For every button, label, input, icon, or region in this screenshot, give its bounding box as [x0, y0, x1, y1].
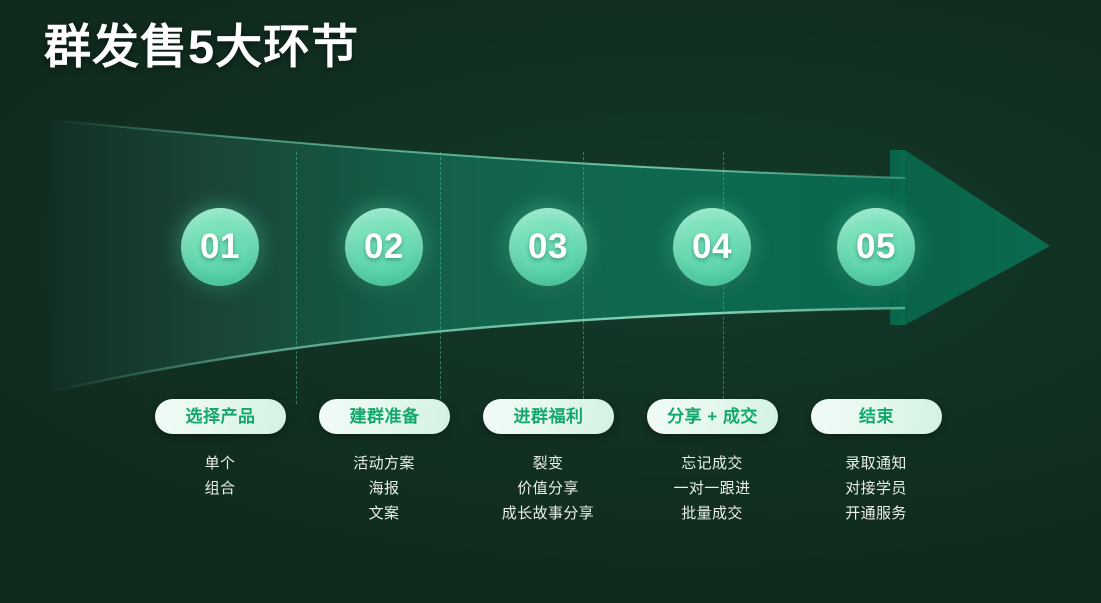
step-title-label: 选择产品 [186, 408, 256, 425]
step-number-badge-03[interactable]: 03 [509, 208, 587, 286]
step-column-04[interactable]: 04 分享 + 成交 忘记成交 一对一跟进 批量成交 [630, 0, 794, 603]
step-title-pill-05[interactable]: 结束 [811, 399, 942, 434]
step-number-badge-01[interactable]: 01 [181, 208, 259, 286]
step-title-pill-01[interactable]: 选择产品 [155, 399, 286, 434]
step-column-02[interactable]: 02 建群准备 活动方案 海报 文案 [302, 0, 466, 603]
step-title-label: 分享 + 成交 [667, 408, 758, 425]
step-title-pill-02[interactable]: 建群准备 [319, 399, 450, 434]
step-number-badge-05[interactable]: 05 [837, 208, 915, 286]
step-number-badge-04[interactable]: 04 [673, 208, 751, 286]
step-number-label: 03 [528, 229, 568, 266]
step-title-pill-03[interactable]: 进群福利 [483, 399, 614, 434]
step-number-label: 04 [692, 229, 732, 266]
step-detail-list-05: 录取通知 对接学员 开通服务 [776, 451, 976, 526]
step-title-pill-04[interactable]: 分享 + 成交 [647, 399, 778, 434]
step-number-label: 05 [856, 229, 896, 266]
list-item: 对接学员 [776, 476, 976, 501]
step-title-label: 结束 [859, 408, 894, 425]
step-column-03[interactable]: 03 进群福利 裂变 价值分享 成长故事分享 [466, 0, 630, 603]
step-number-label: 02 [364, 229, 404, 266]
step-number-label: 01 [200, 229, 240, 266]
step-column-05[interactable]: 05 结束 录取通知 对接学员 开通服务 [794, 0, 958, 603]
list-item: 录取通知 [776, 451, 976, 476]
step-column-01[interactable]: 01 选择产品 单个 组合 [138, 0, 302, 603]
step-number-badge-02[interactable]: 02 [345, 208, 423, 286]
step-title-label: 进群福利 [514, 408, 584, 425]
steps-container: 01 选择产品 单个 组合 02 建群准备 活动方案 海报 文案 [0, 0, 1101, 603]
list-item: 开通服务 [776, 501, 976, 526]
slide-canvas: 群发售5大环节 01 选择产品 单个 组合 02 建群准备 [0, 0, 1101, 603]
step-title-label: 建群准备 [350, 408, 420, 425]
